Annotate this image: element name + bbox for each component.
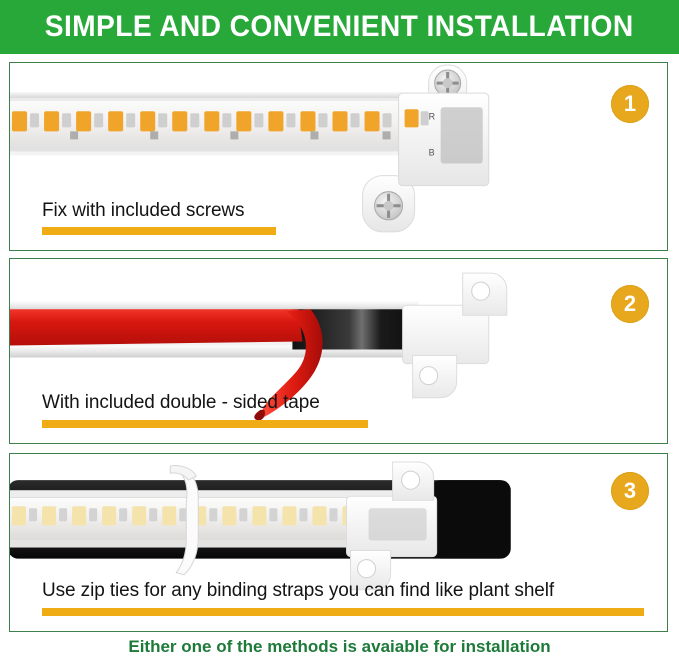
- step-number-badge-1: 1: [611, 85, 649, 123]
- led-strip-with-double-sided-tape-illustration: [10, 259, 667, 443]
- install-step-panel-3: 3 Use zip ties for any binding straps yo…: [9, 453, 668, 632]
- caption-underline-2: [42, 420, 368, 428]
- page-title: SIMPLE AND CONVENIENT INSTALLATION: [45, 10, 634, 44]
- caption-underline-3: [42, 608, 644, 616]
- install-step-panel-1: R B 1 Fix with included screws: [9, 62, 668, 251]
- header-banner: SIMPLE AND CONVENIENT INSTALLATION: [0, 0, 679, 54]
- step-caption-1: Fix with included screws: [42, 200, 244, 222]
- footer-note: Either one of the methods is avaiable fo…: [0, 637, 679, 657]
- install-step-panel-2: 2 With included double - sided tape: [9, 258, 668, 444]
- led-strip-zip-tied-illustration: [10, 454, 667, 631]
- svg-text:R: R: [429, 111, 436, 121]
- caption-underline-1: [42, 227, 276, 235]
- step-number-badge-3: 3: [611, 472, 649, 510]
- step-number-badge-2: 2: [611, 285, 649, 323]
- step-caption-3: Use zip ties for any binding straps you …: [42, 580, 554, 602]
- step-caption-2: With included double - sided tape: [42, 392, 320, 414]
- svg-text:B: B: [429, 147, 435, 157]
